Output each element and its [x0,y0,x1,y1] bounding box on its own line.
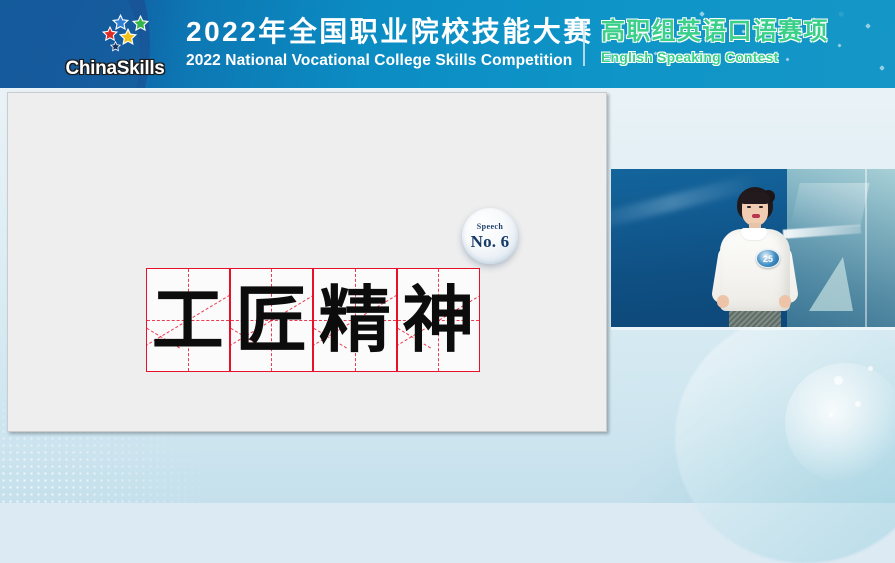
background-bubble [855,401,861,407]
contestant-collar [741,228,767,240]
contestant-fringe [740,192,770,204]
contestant-hand-right [779,295,791,308]
grid-cell: 工 [146,268,230,372]
header-divider [583,22,585,66]
background-bubble [868,366,873,371]
grid-character: 工 [147,269,229,371]
grid-character: 精 [314,269,396,371]
logo-stars [84,12,158,54]
speech-badge-number: No. 6 [471,233,510,250]
chinese-character-grid: 工 匠 精 神 [146,268,480,370]
logo-text-skills: Skills [117,58,165,79]
competition-title-en: 2022 National Vocational College Skills … [186,53,564,69]
logo-wordmark: ChinaSkills [56,58,174,80]
competition-title-cn: 2022年全国职业院校技能大赛 [186,18,564,46]
contestant-figure: 25 [707,187,803,327]
contestant-number-badge: 25 [756,249,780,268]
video-bottom-edge [611,327,895,330]
competition-title-block: 2022年全国职业院校技能大赛 2022 National Vocational… [186,18,564,69]
chinaskills-logo: ChinaSkills [56,12,174,82]
video-floor-reflection [809,257,853,311]
contestant-hand-left [717,295,729,308]
contest-subtitle-en: English Speaking Contest [601,50,841,64]
grid-cell: 神 [397,268,481,372]
contest-subtitle-block: 高职组英语口语赛项 English Speaking Contest [601,20,841,64]
presentation-slide[interactable]: Speech No. 6 工 匠 精 神 Craftsmanship [7,92,607,432]
contest-subtitle-cn: 高职组英语口语赛项 [601,20,841,44]
background-bubble [829,413,833,417]
logo-text-china: China [65,58,116,79]
grid-character: 匠 [231,269,313,371]
background-bubble [834,376,843,385]
grid-cell: 匠 [230,268,314,372]
contestant-mouth [752,214,760,218]
contestant-video-feed[interactable]: 25 [611,169,895,327]
grid-cell: 精 [313,268,397,372]
speech-badge-label: Speech [477,223,503,231]
header-banner: ChinaSkills 2022年全国职业院校技能大赛 2022 Nationa… [0,0,895,88]
grid-character: 神 [398,269,480,371]
speech-number-badge: Speech No. 6 [462,208,518,264]
